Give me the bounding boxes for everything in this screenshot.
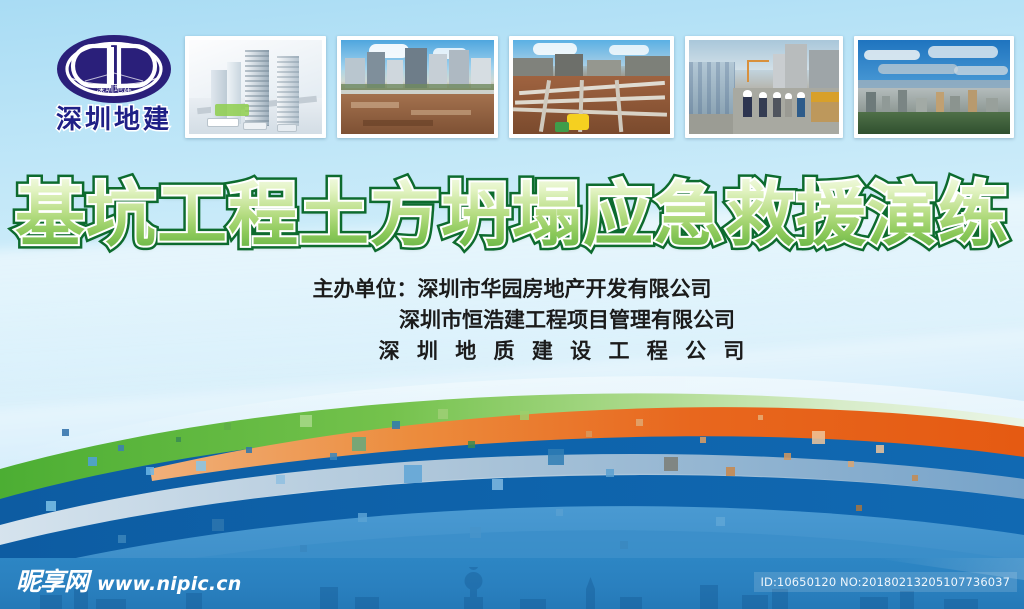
watermark-footer: 昵享网 www.nipic.cn ID:10650120 NO:20180213… [0, 558, 1024, 609]
pixel-square [88, 457, 97, 466]
pixel-square [246, 447, 252, 453]
pixel-square [146, 467, 154, 475]
pixel-square [224, 423, 231, 430]
pixel-square [876, 445, 884, 453]
pixel-square [404, 465, 422, 483]
pixel-square [520, 411, 529, 420]
pixel-square [700, 437, 706, 443]
photo-workers-inspection [689, 40, 839, 134]
shenzhen-dijian-emblem-icon: 深圳地建 [55, 33, 173, 105]
organizer-line-3: 深 圳 地 质 建 设 工 程 公 司 [0, 336, 1024, 367]
pixel-square [468, 441, 475, 448]
asset-id-label: ID:10650120 NO:20180213205107736037 [754, 572, 1017, 592]
pixel-square [330, 453, 337, 460]
photo-excavation-site [341, 40, 494, 134]
poster-canvas: 深圳地建 深圳地建 [0, 0, 1024, 609]
pixel-square [196, 461, 206, 471]
pixel-square [556, 509, 563, 516]
pixel-square [726, 467, 735, 476]
organizer-line-1: 主办单位：深圳市华园房地产开发有限公司 [0, 274, 1024, 305]
pixel-square [856, 505, 862, 511]
logo-wordmark: 深圳地建 [56, 107, 172, 133]
photo-frame-1 [185, 36, 326, 138]
pixel-square [664, 457, 678, 471]
nipic-brand-cn: 昵享网 [16, 569, 88, 595]
organizer-block: 主办单位：深圳市华园房地产开发有限公司 深圳市恒浩建工程项目管理有限公司 深 圳… [0, 274, 1024, 367]
pixel-square [352, 437, 366, 451]
photo-frame-2 [337, 36, 498, 138]
emblem-inner-text: 深圳地建 [96, 83, 132, 95]
pixel-square [438, 409, 448, 419]
pixel-square [62, 429, 69, 436]
pixel-square [606, 469, 614, 477]
pixel-square [912, 475, 918, 481]
pixel-square [784, 453, 791, 460]
pixel-square [716, 517, 725, 526]
photo-strip [185, 36, 1014, 138]
pixel-square [548, 449, 564, 465]
pixel-square [118, 535, 126, 543]
pixel-square [620, 541, 628, 549]
pixel-square [212, 519, 224, 531]
nipic-brand: 昵享网 www.nipic.cn [16, 569, 242, 595]
photo-tower-rendering [189, 40, 322, 134]
nipic-brand-url: www.nipic.cn [97, 573, 241, 595]
pixel-square [812, 431, 825, 444]
pixel-square [392, 421, 400, 429]
pixel-square [586, 431, 592, 437]
pixel-square [276, 475, 285, 484]
poster-title-text: 基坑工程土方坍塌应急救援演练 [15, 174, 1009, 256]
photo-city-skyline [858, 40, 1010, 134]
photo-frame-3 [509, 36, 674, 138]
pixel-square [848, 461, 854, 467]
photo-frame-5 [854, 36, 1014, 138]
photo-rebar-foundation [513, 40, 670, 134]
pixel-square [758, 415, 763, 420]
pixel-square [118, 445, 124, 451]
pixel-square [46, 501, 56, 511]
poster-title: 基坑工程土方坍塌应急救援演练 基坑工程土方坍塌应急救援演练 基坑工程土方坍塌应急… [0, 176, 1024, 254]
pixel-square [300, 415, 312, 427]
pixel-square [176, 437, 181, 442]
photo-frame-4 [685, 36, 843, 138]
pixel-square [470, 527, 481, 538]
pixel-square [636, 419, 643, 426]
organizer-line-2: 深圳市恒浩建工程项目管理有限公司 [0, 305, 1024, 336]
company-logo: 深圳地建 深圳地建 [44, 33, 184, 145]
pixel-square [300, 545, 307, 552]
pixel-square [492, 479, 503, 490]
pixel-square [358, 513, 367, 522]
